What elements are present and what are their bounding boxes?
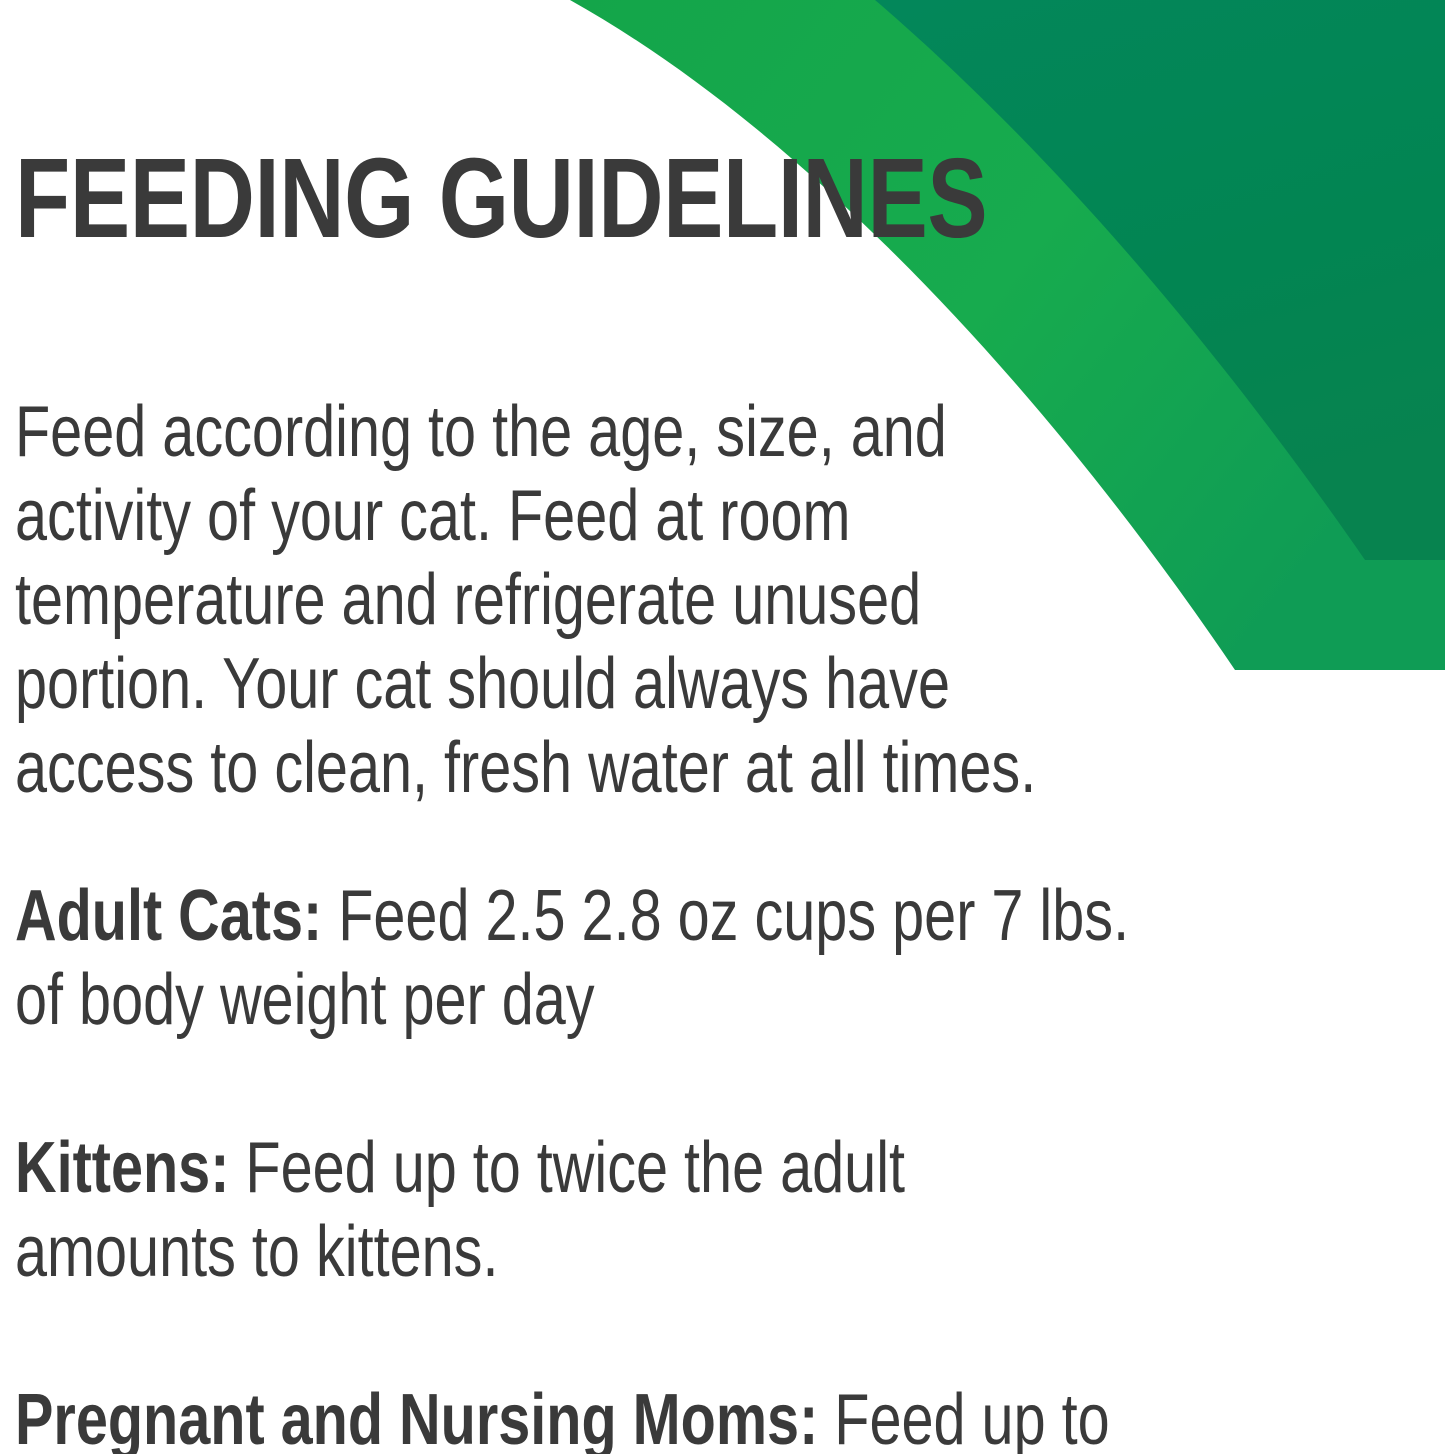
moms-text: Feed up to (818, 1380, 1109, 1454)
kittens-text: Feed up to twice the adult (229, 1128, 905, 1208)
kittens-line-2: amounts to kittens. (15, 1210, 1375, 1294)
adult-cats-line-2: of body weight per day (15, 958, 1375, 1042)
kittens-line-1: Kittens: Feed up to twice the adult (15, 1126, 1375, 1210)
adult-cats-text: Feed 2.5 2.8 oz cups per 7 lbs. (322, 876, 1129, 956)
pregnant-nursing-moms-paragraph: Pregnant and Nursing Moms: Feed up to 3 … (15, 1378, 1375, 1454)
intro-line-5: access to clean, fresh water at all time… (15, 726, 1375, 810)
intro-paragraph: Feed according to the age, size, and act… (15, 390, 1375, 810)
intro-line-3: temperature and refrigerate unused (15, 558, 1375, 642)
kittens-paragraph: Kittens: Feed up to twice the adult amou… (15, 1126, 1375, 1294)
adult-cats-line-1: Adult Cats: Feed 2.5 2.8 oz cups per 7 l… (15, 874, 1375, 958)
adult-cats-paragraph: Adult Cats: Feed 2.5 2.8 oz cups per 7 l… (15, 874, 1375, 1042)
moms-label: Pregnant and Nursing Moms: (15, 1380, 818, 1454)
intro-line-2: activity of your cat. Feed at room (15, 474, 1375, 558)
intro-line-1: Feed according to the age, size, and (15, 390, 1375, 474)
adult-cats-label: Adult Cats: (15, 876, 322, 956)
feeding-guidelines-panel: FEEDING GUIDELINES Feed according to the… (0, 0, 1445, 1454)
moms-line-1: Pregnant and Nursing Moms: Feed up to (15, 1378, 1375, 1454)
intro-line-4: portion. Your cat should always have (15, 642, 1375, 726)
page-title: FEEDING GUIDELINES (15, 142, 987, 255)
kittens-label: Kittens: (15, 1128, 229, 1208)
